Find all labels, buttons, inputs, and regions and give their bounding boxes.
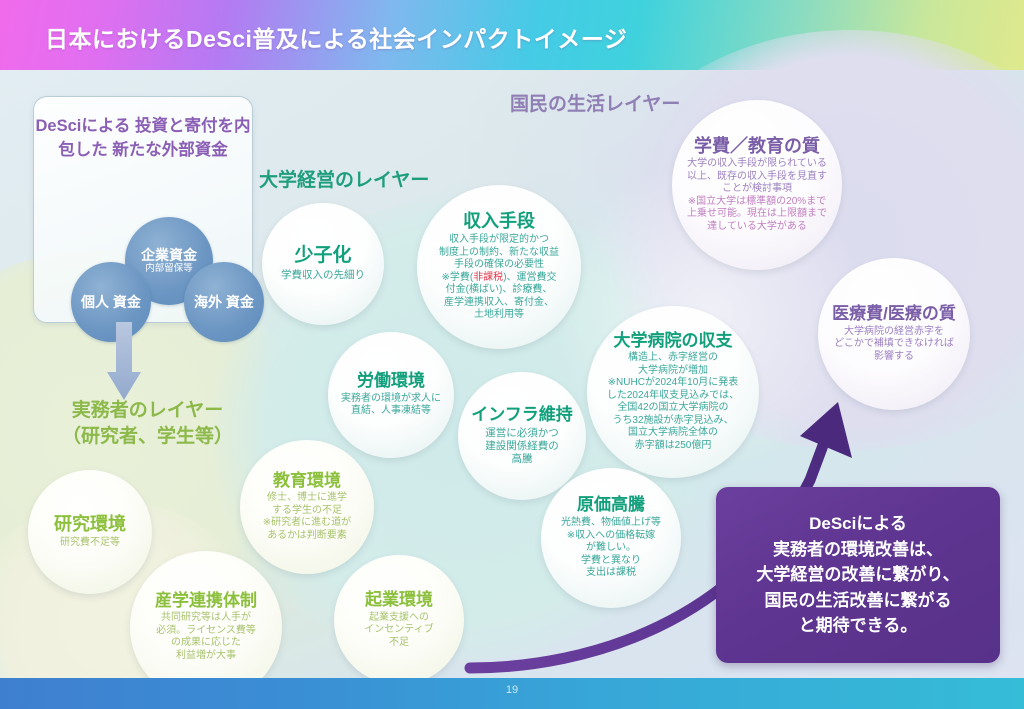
bubble-shuunyuu-title: 収入手段 [463, 212, 535, 232]
bubble-shoushika-title: 少子化 [294, 246, 351, 267]
bubble-roudou-body: 実務者の環境が求人に 直結、人事凍結等 [341, 393, 441, 418]
bubble-shuunyuu-note-pre: ※学費( [441, 272, 473, 283]
bubble-iryou-body: 大学病院の経営赤字を どこかで補填できなければ 影響する [834, 326, 954, 364]
down-arrow-icon [107, 322, 141, 400]
bubble-shuunyuu: 収入手段 収入手段が限定的かつ 制度上の制約、新たな収益 手段の確保の必要性 ※… [417, 185, 581, 349]
funding-box: DeSciによる 投資と寄付を内包した 新たな外部資金 企業資金 内部留保等 個… [33, 96, 253, 323]
bubble-kenkyuu: 研究環境 研究費不足等 [28, 470, 152, 594]
bubble-kyouiku-body: 修士、博士に進学 する学生の不足 ※研究者に進む道が あるかは判断要素 [263, 492, 351, 542]
bubble-kigyou: 起業環境 起業支援への インセンティブ 不足 [334, 555, 464, 685]
bubble-gakuhi: 学費／教育の質 大学の収入手段が限られている 以上、既存の収入手段を見直す こと… [672, 100, 842, 270]
page-title: 日本におけるDeSci普及による社会インパクトイメージ [45, 20, 627, 54]
bubble-sangaku-title: 産学連携体制 [155, 592, 257, 611]
bubble-genka-title: 原価高騰 [577, 496, 645, 515]
bubble-shoushika-body: 学費収入の先細り [281, 269, 365, 282]
bubble-infra-title: インフラ維持 [471, 406, 573, 425]
bubble-shuunyuu-body: 収入手段が限定的かつ 制度上の制約、新たな収益 手段の確保の必要性 [439, 234, 559, 272]
slide-root: 日本におけるDeSci普及による社会インパクトイメージ DeSciによる 投資と… [0, 0, 1024, 709]
bubble-sangaku-body: 共同研究等は人手が 必須。ライセンス費等 の成果に応じた 利益増が大事 [156, 612, 256, 662]
bubble-kyouiku: 教育環境 修士、博士に進学 する学生の不足 ※研究者に進む道が あるかは判断要素 [240, 440, 374, 574]
funding-box-title: DeSciによる 投資と寄付を内包した 新たな外部資金 [34, 115, 252, 163]
bubble-iryou-title: 医療費/医療の質 [832, 305, 956, 324]
layer-label-citizens: 国民の生活レイヤー [510, 89, 680, 116]
bubble-gakuhi-title: 学費／教育の質 [694, 137, 820, 157]
bubble-kenkyuu-body: 研究費不足等 [60, 537, 120, 550]
layer-label-university: 大学経営のレイヤー [259, 165, 429, 192]
bubble-genka: 原価高騰 光熱費、物価値上げ等 ※収入への価格転嫁 が難しい。 学費と異なり 支… [541, 468, 681, 608]
bubble-kigyou-title: 起業環境 [365, 591, 433, 610]
bubble-hospital-note: 国立大学病院全体の 赤字額は250億円 [628, 427, 718, 452]
bubble-kenkyuu-title: 研究環境 [54, 515, 126, 535]
bubble-infra: インフラ維持 運営に必須かつ 建設関係経費の 高騰 [458, 372, 586, 500]
bubble-shuunyuu-note: ※学費(非課税)、運営費交 付金(横ばい)、診療費、 産学連携収入、寄付金、 土… [441, 272, 556, 322]
funding-circle-overseas-label: 海外 資金 [194, 294, 254, 310]
funding-circle-corporate-sub: 内部留保等 [145, 264, 193, 274]
bubble-hospital-title: 大学病院の収支 [614, 332, 733, 351]
funding-circle-corporate-label: 企業資金 [141, 247, 197, 263]
bubble-infra-body: 運営に必須かつ 建設関係経費の 高騰 [485, 427, 559, 466]
bubble-kyouiku-title: 教育環境 [273, 472, 341, 491]
bubble-shoushika: 少子化 学費収入の先細り [262, 203, 384, 325]
conclusion-box: DeSciによる 実務者の環境改善は、 大学経営の改善に繋がり、 国民の生活改善… [716, 487, 1000, 663]
bubble-genka-body: 光熱費、物価値上げ等 ※収入への価格転嫁 が難しい。 [561, 517, 661, 555]
bubble-gakuhi-body: 大学の収入手段が限られている 以上、既存の収入手段を見直す ことが検討事項 [687, 158, 827, 196]
bubble-gakuhi-note: ※国立大学は標準額の20%まで 上乗せ可能。現在は上限額まで 達している大学があ… [687, 196, 827, 234]
bubble-roudou-title: 労働環境 [357, 372, 425, 391]
funding-circle-personal-label: 個人 資金 [81, 294, 141, 310]
page-number: 19 [0, 684, 1024, 696]
layer-label-practitioner: 実務者のレイヤー （研究者、学生等） [62, 398, 233, 449]
conclusion-text: DeSciによる 実務者の環境改善は、 大学経営の改善に繋がり、 国民の生活改善… [756, 511, 959, 639]
bubble-hospital: 大学病院の収支 構造上、赤字経営の 大学病院が増加 ※NUHCが2024年10月… [587, 306, 759, 478]
bubble-hospital-body: 構造上、赤字経営の 大学病院が増加 ※NUHCが2024年10月に発表 した20… [607, 352, 739, 427]
bubble-roudou: 労働環境 実務者の環境が求人に 直結、人事凍結等 [328, 332, 454, 458]
bubble-iryou: 医療費/医療の質 大学病院の経営赤字を どこかで補填できなければ 影響する [818, 258, 970, 410]
bubble-genka-note: 学費と異なり 支出は課税 [581, 555, 641, 580]
bubble-kigyou-body: 起業支援への インセンティブ 不足 [364, 612, 433, 650]
bubble-shuunyuu-note-red: 非課税 [473, 272, 503, 283]
funding-circle-overseas: 海外 資金 [184, 262, 264, 342]
